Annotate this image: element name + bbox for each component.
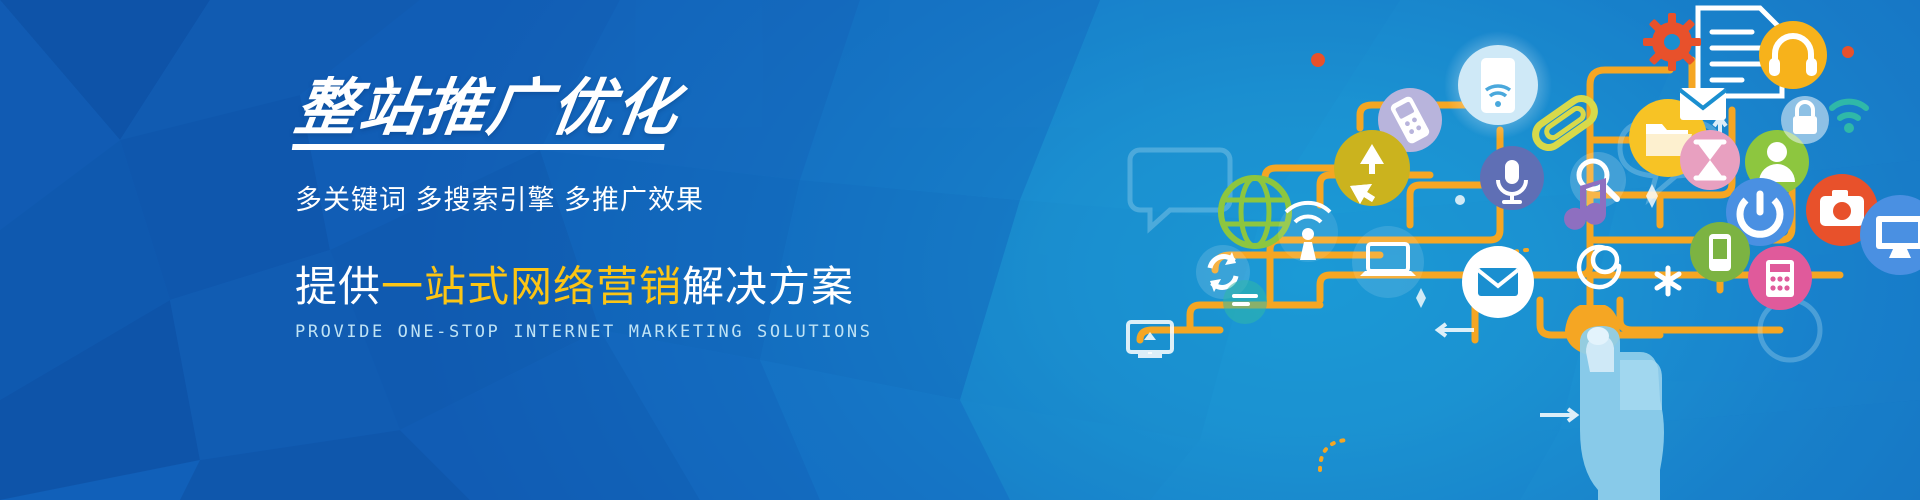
page-title: 整站推广优化: [290, 78, 684, 148]
right-arrow-icon: [1540, 409, 1576, 421]
banner-english-tagline: PROVIDE ONE-STOP INTERNET MARKETING SOLU…: [295, 322, 935, 342]
broadcast-antenna-icon: [1278, 202, 1338, 262]
wifi-signal-icon: [1832, 102, 1866, 133]
mobile-phone-icon: [1690, 222, 1750, 282]
hourglass-icon: [1680, 130, 1740, 190]
banner-subline: 多关键词 多搜索引擎 多推广效果: [295, 178, 935, 217]
envelope-icon: [1680, 88, 1726, 120]
banner-tagline: 提供一站式网络营销解决方案: [295, 253, 935, 314]
pointing-hand-icon: [1580, 326, 1664, 500]
headphones-icon: [1759, 21, 1827, 89]
tagline-part-two: 解决方案: [682, 263, 854, 310]
recycle-icon: [1334, 130, 1410, 206]
at-sign-icon: [1579, 247, 1619, 287]
banner-text-block: 整站推广优化 多关键词 多搜索引擎 多推广效果 提供一站式网络营销解决方案 PR…: [295, 78, 935, 342]
smartphone-wifi-icon: [1444, 31, 1552, 139]
tagline-part-one: 提供: [295, 263, 381, 310]
gear-icon: [1643, 13, 1701, 71]
tech-icon-tree-artwork: [1020, 0, 1920, 500]
speech-bubble-icon: [1130, 150, 1230, 228]
laptop-icon: [1352, 226, 1424, 298]
left-arrow-icon: [1438, 324, 1474, 336]
search-icon: [1570, 152, 1626, 208]
promo-banner: 整站推广优化 多关键词 多搜索引擎 多推广效果 提供一站式网络营销解决方案 PR…: [0, 0, 1920, 500]
microphone-icon: [1480, 146, 1544, 210]
misc-glyph-icons: [1416, 184, 1658, 308]
chat-bubble-icon: [1223, 280, 1267, 324]
envelope-icon: [1462, 246, 1534, 318]
lock-icon: [1781, 96, 1829, 144]
tagline-highlight: 一站式网络营销: [381, 263, 682, 310]
calculator-icon: [1748, 246, 1812, 310]
